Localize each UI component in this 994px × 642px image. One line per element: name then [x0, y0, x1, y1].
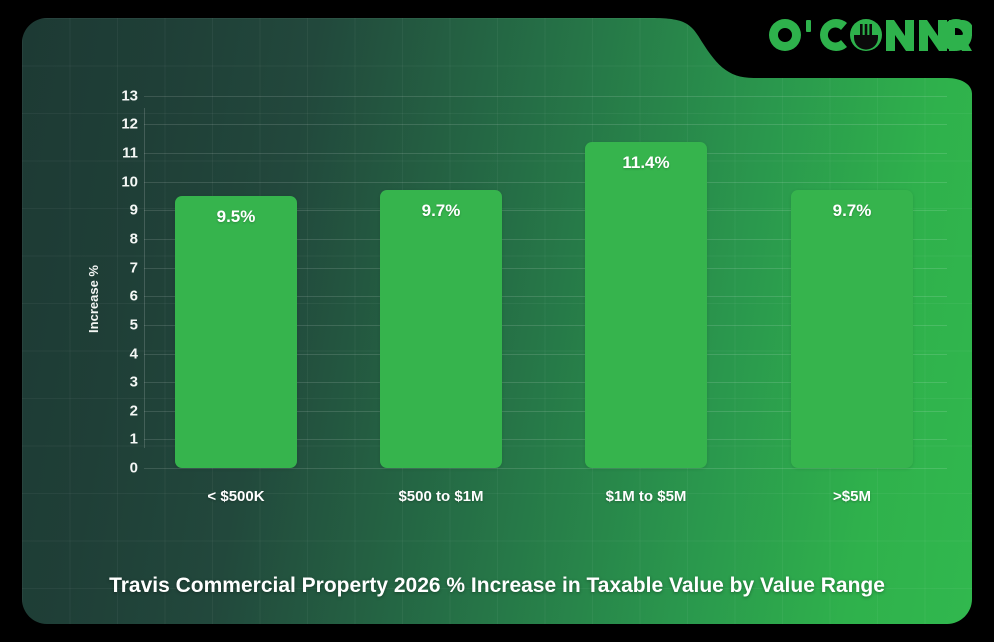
y-tick-11: 11: [100, 146, 138, 161]
bar-gt-5m[interactable]: 9.7%: [791, 190, 913, 468]
chart-title: Travis Commercial Property 2026 % Increa…: [22, 574, 972, 598]
bar-lt-500k[interactable]: 9.5%: [175, 196, 297, 468]
bar-value-label: 9.7%: [380, 201, 502, 221]
y-axis-label: Increase %: [8, 284, 178, 314]
y-tick-12: 12: [100, 117, 138, 132]
x-label-1m-5m: $1M to $5M: [585, 488, 707, 505]
y-tick-10: 10: [100, 175, 138, 190]
gridline-0: [144, 468, 947, 469]
bar-value-label: 9.7%: [791, 201, 913, 221]
chart-canvas: Increase % 13 12 11 10 9 8 7 6 5 4 3 2 1…: [0, 0, 994, 642]
x-label-gt-5m: >$5M: [791, 488, 913, 505]
y-tick-0: 0: [100, 461, 138, 476]
bar-value-label: 11.4%: [585, 153, 707, 173]
gridline-12: [144, 124, 947, 125]
y-tick-13: 13: [100, 89, 138, 104]
bar-500k-1m[interactable]: 9.7%: [380, 190, 502, 468]
x-label-500k-1m: $500 to $1M: [380, 488, 502, 505]
y-tick-3: 3: [100, 375, 138, 390]
y-tick-9: 9: [100, 203, 138, 218]
y-tick-6: 6: [100, 289, 138, 304]
bar-1m-5m[interactable]: 11.4%: [585, 142, 707, 468]
gridline-13: [144, 96, 947, 97]
gridline-10: [144, 182, 947, 183]
gridline-11: [144, 153, 947, 154]
y-axis-line: [144, 108, 145, 448]
y-tick-2: 2: [100, 404, 138, 419]
y-tick-5: 5: [100, 318, 138, 333]
plot-area: Increase % 13 12 11 10 9 8 7 6 5 4 3 2 1…: [22, 18, 972, 624]
bar-value-label: 9.5%: [175, 207, 297, 227]
y-tick-4: 4: [100, 347, 138, 362]
x-label-lt-500k: < $500K: [175, 488, 297, 505]
y-tick-7: 7: [100, 261, 138, 276]
y-tick-1: 1: [100, 432, 138, 447]
y-tick-8: 8: [100, 232, 138, 247]
